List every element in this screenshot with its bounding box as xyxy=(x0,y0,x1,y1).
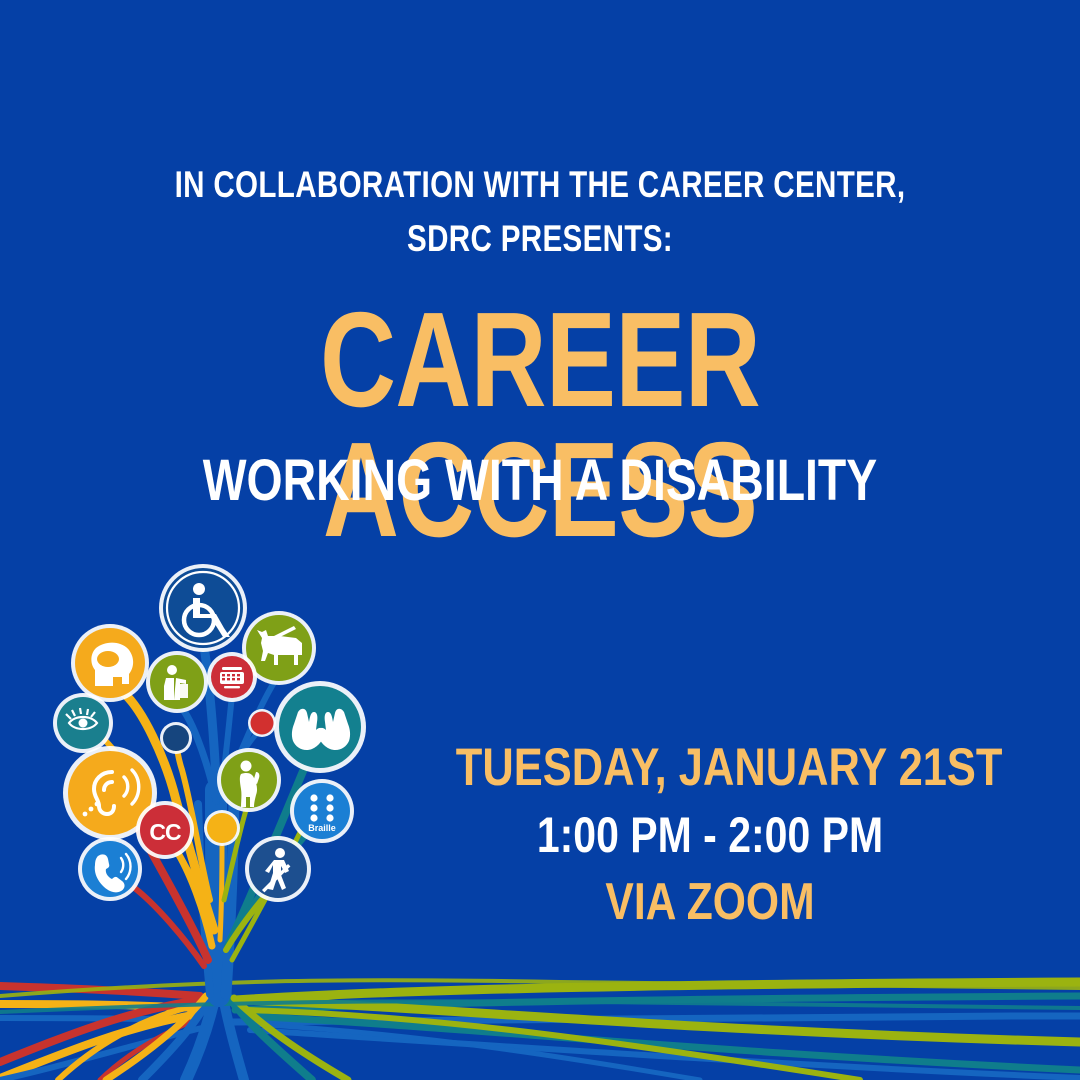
low-vision-eye-icon xyxy=(53,693,113,753)
closed-caption-icon: CC xyxy=(136,801,194,859)
event-time: 1:00 PM - 2:00 PM xyxy=(456,801,964,869)
dot-navy-icon xyxy=(160,722,192,754)
event-platform: VIA ZOOM xyxy=(456,869,964,935)
wheelchair-icon xyxy=(159,564,247,652)
eyebrow-line-2: SDRC PRESENTS: xyxy=(108,212,972,266)
eyebrow-line-1: IN COLLABORATION WITH THE CAREER CENTER, xyxy=(175,164,906,205)
page-title: CAREER ACCESS xyxy=(119,295,961,555)
tree-roots xyxy=(0,980,1080,1080)
cc-caption: CC xyxy=(149,819,181,845)
sign-language-icon xyxy=(274,681,366,773)
page-subtitle: WORKING WITH A DISABILITY xyxy=(108,449,972,513)
braille-caption: Braille xyxy=(308,823,336,833)
event-date: TUESDAY, JANUARY 21ST xyxy=(456,735,964,801)
cognitive-head-icon xyxy=(71,624,149,702)
tty-phone-icon xyxy=(78,837,142,901)
event-details-block: TUESDAY, JANUARY 21ST 1:00 PM - 2:00 PM … xyxy=(400,735,1020,935)
braille-icon: Braille xyxy=(290,779,354,843)
dot-red-icon xyxy=(248,709,276,737)
poster-canvas: Braille CC xyxy=(0,0,1080,1080)
white-cane-icon xyxy=(245,836,311,902)
arm-sling-icon xyxy=(146,651,208,713)
pregnancy-icon xyxy=(217,748,281,812)
eyebrow-text: IN COLLABORATION WITH THE CAREER CENTER,… xyxy=(108,158,972,266)
dot-gold-icon xyxy=(204,810,240,846)
tty-teletype-icon xyxy=(207,652,257,702)
